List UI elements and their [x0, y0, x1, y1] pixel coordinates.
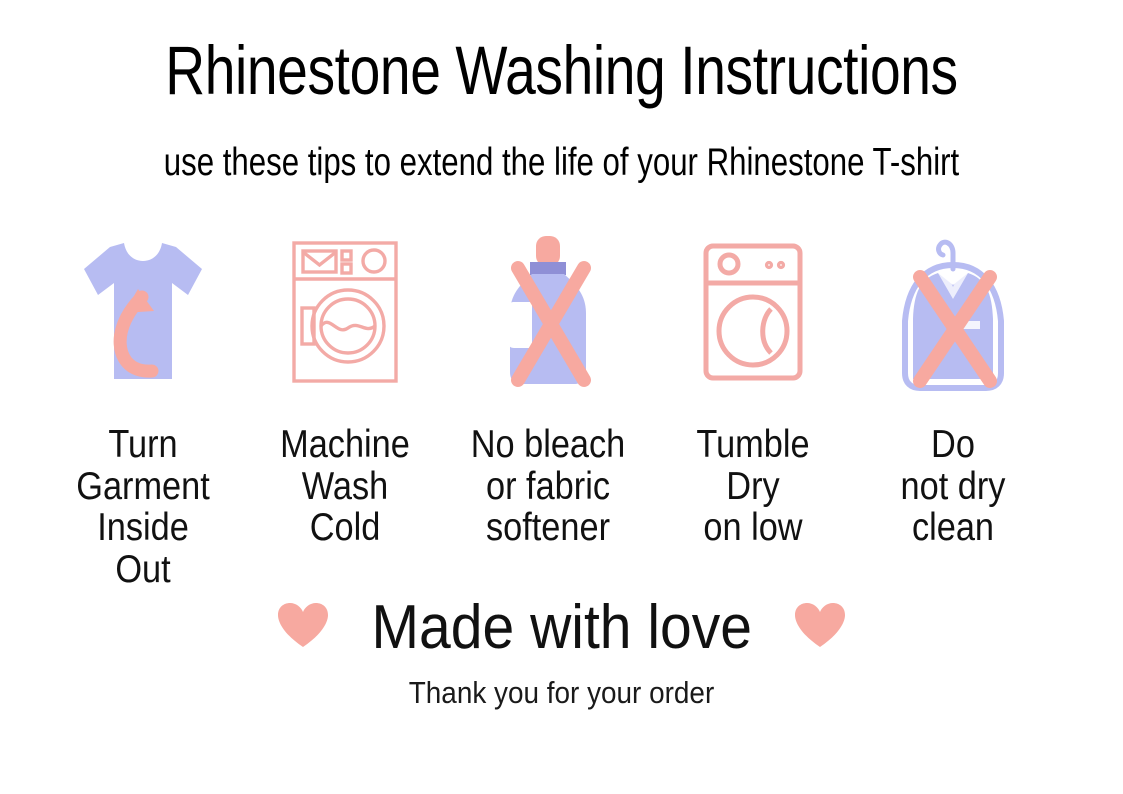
heart-icon-right: [794, 602, 846, 654]
instruction-label-2: Machine Wash Cold: [253, 424, 438, 549]
instruction-icon-4: [658, 228, 848, 396]
thank-you-text: Thank you for your order: [56, 675, 1067, 711]
instruction-icon-2: [250, 228, 440, 396]
heart-icon-left: [277, 602, 329, 654]
page-subtitle: use these tips to extend the life of you…: [112, 143, 1010, 184]
made-with-love-text: Made with love: [371, 597, 751, 659]
instruction-label-5: Do not dry clean: [861, 424, 1046, 549]
instruction-label-1: Turn Garment Inside Out: [51, 424, 236, 590]
tshirt-inside-out-icon: [80, 233, 206, 391]
page-title: Rhinestone Washing Instructions: [112, 36, 1010, 106]
instruction-icon-row: [0, 228, 1123, 396]
made-with-love-line: Made with love: [0, 592, 1123, 664]
tumble-dryer-icon: [701, 241, 805, 383]
instruction-label-4: Tumble Dry on low: [661, 424, 846, 549]
washing-machine-icon: [289, 238, 401, 386]
no-bleach-bottle-icon: [488, 232, 608, 392]
instruction-label-row: Turn Garment Inside Out Machine Wash Col…: [0, 424, 1123, 604]
instruction-icon-1: [48, 228, 238, 396]
no-dry-clean-icon: [890, 229, 1016, 395]
washing-instructions-card: Rhinestone Washing Instructions use thes…: [0, 0, 1123, 794]
instruction-label-3: No bleach or fabric softener: [456, 424, 641, 549]
instruction-icon-3: [453, 228, 643, 396]
instruction-icon-5: [858, 228, 1048, 396]
